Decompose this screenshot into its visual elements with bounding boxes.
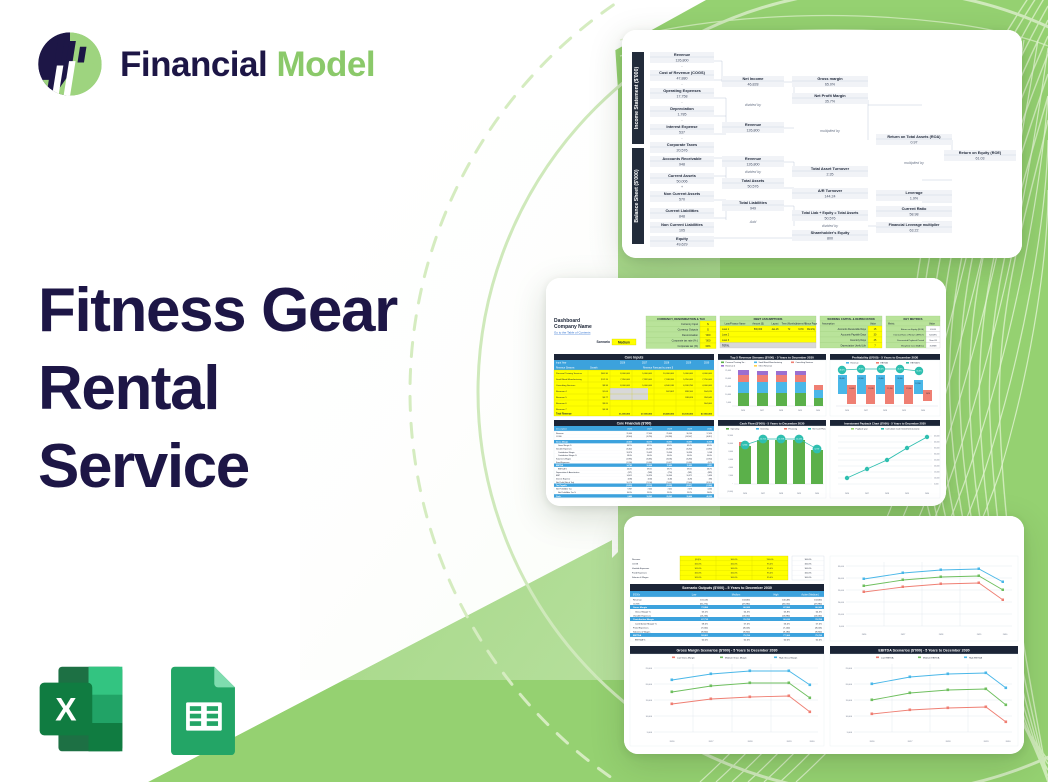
- svg-text:Variable Expenses: Variable Expenses: [632, 567, 649, 570]
- key-metrics-table: KEY METRICS MetricValue Return on Equity…: [886, 316, 940, 348]
- svg-text:Revenue: Revenue: [674, 52, 691, 57]
- svg-text:$4.18: $4.18: [603, 409, 609, 411]
- svg-text:Financing: Financing: [789, 429, 798, 431]
- svg-text:Revenue: Revenue: [745, 122, 762, 127]
- svg-text:2028: 2028: [664, 363, 670, 365]
- page-title: Fitness Gear Rental Service: [38, 272, 458, 506]
- svg-text:54.0%: 54.0%: [707, 455, 712, 457]
- svg-text:30,100: 30,100: [687, 433, 693, 435]
- svg-text:(7,158): (7,158): [646, 482, 652, 484]
- svg-text:2026: 2026: [741, 410, 745, 412]
- svg-text:KEY METRICS: KEY METRICS: [903, 317, 922, 321]
- svg-text:105.0%: 105.0%: [694, 573, 701, 575]
- svg-text:95.0%: 95.0%: [767, 577, 773, 579]
- svg-text:2028: 2028: [779, 493, 783, 495]
- svg-text:Shareholder's Equity: Shareholder's Equity: [811, 230, 851, 235]
- svg-text:65.5%: 65.5%: [647, 445, 652, 447]
- svg-text:Net Profit After Tax %: Net Profit After Tax %: [558, 491, 576, 494]
- svg-text:502,802: 502,802: [666, 391, 675, 393]
- svg-text:4,000: 4,000: [729, 467, 734, 469]
- svg-text:15,000: 15,000: [934, 472, 940, 474]
- svg-text:95.0%: 95.0%: [767, 568, 773, 570]
- svg-text:2029: 2029: [787, 741, 793, 743]
- svg-text:Internal Rate of Return (IRR): Internal Rate of Return (IRR) %: [893, 333, 924, 336]
- svg-text:2030: 2030: [815, 493, 819, 495]
- currency-denomination-tax-table: CURRENCY, DENOMINATION & TAX Currency In…: [646, 316, 716, 349]
- svg-text:100.0%: 100.0%: [804, 568, 811, 570]
- svg-text:Revenue 7: Revenue 7: [556, 409, 567, 411]
- svg-text:140,480: 140,480: [782, 599, 791, 601]
- svg-text:Revenue: Revenue: [632, 559, 641, 561]
- svg-text:30,100,000: 30,100,000: [682, 414, 694, 416]
- svg-text:DEBT ASSUMPTIONS: DEBT ASSUMPTIONS: [754, 317, 783, 321]
- svg-text:105.0%: 105.0%: [694, 568, 701, 570]
- svg-text:55.3%: 55.3%: [916, 371, 922, 373]
- svg-text:61.03: 61.03: [930, 329, 936, 331]
- svg-text:50,006: 50,006: [677, 180, 688, 184]
- dupont-flowchart-svg: Income Statement ($'000) Balance Sheet (…: [622, 30, 1022, 258]
- svg-text:Return on Equity (ROE): Return on Equity (ROE): [959, 151, 1002, 155]
- svg-text:Current Liabilities: Current Liabilities: [665, 208, 698, 213]
- svg-text:20,000: 20,000: [725, 378, 731, 380]
- svg-text:Operating Expenses: Operating Expenses: [663, 88, 701, 93]
- svg-text:5,000,000: 5,000,000: [642, 373, 653, 375]
- svg-text:EBITDA Scenarios ($'000) - 5 Y: EBITDA Scenarios ($'000) - 5 Years to De…: [878, 649, 969, 653]
- svg-text:20,000: 20,000: [846, 684, 853, 686]
- svg-text:2027: 2027: [865, 493, 869, 495]
- svg-text:'000: '000: [706, 339, 711, 343]
- svg-text:64.5%: 64.5%: [816, 611, 822, 613]
- svg-text:Active (Medium): Active (Medium): [801, 593, 818, 596]
- svg-text:76,700: 76,700: [815, 619, 822, 621]
- svg-text:30,100: 30,100: [897, 378, 902, 380]
- svg-text:2030: 2030: [1006, 741, 1012, 743]
- svg-text:65.8%: 65.8%: [784, 611, 790, 613]
- svg-text:Gross Margin: Gross Margin: [633, 607, 648, 609]
- svg-text:Total Revenue: Total Revenue: [556, 413, 572, 416]
- income-statement-section-tab: Income Statement ($'000): [632, 52, 644, 144]
- svg-text:TOTAL: TOTAL: [722, 344, 730, 347]
- svg-text:multiplied by: multiplied by: [820, 129, 840, 133]
- flow-node: Financial Leverage multiplier 63.22: [876, 222, 952, 233]
- svg-text:Return on Equity (ROE): Return on Equity (ROE): [901, 328, 924, 331]
- svg-text:284,040: 284,040: [704, 397, 713, 399]
- svg-text:2030: 2030: [810, 741, 816, 743]
- svg-text:49.0%: 49.0%: [858, 369, 864, 371]
- scenarios-canvas: RevenueCOGS Variable ExpensesFixed Expen…: [624, 516, 1024, 754]
- svg-text:2030: 2030: [921, 410, 925, 412]
- svg-text:17,050: 17,050: [915, 383, 920, 385]
- svg-text:504,070: 504,070: [704, 391, 713, 393]
- microsoft-excel-icon[interactable]: X: [34, 662, 128, 756]
- svg-text:Investment Payback Chart ($'00: Investment Payback Chart ($'000) - 5 Yea…: [844, 421, 926, 425]
- svg-text:56.0%: 56.0%: [784, 623, 790, 625]
- svg-text:Net Profit (Net of Tax): Net Profit (Net of Tax): [556, 481, 575, 484]
- svg-text:20,000: 20,000: [838, 602, 845, 604]
- svg-text:126,800: 126,800: [747, 163, 760, 167]
- brand-word-financial: Financial: [120, 45, 267, 84]
- flow-node: Cost of Revenue (COGS) 47,880: [650, 70, 714, 81]
- svg-text:57.0%: 57.0%: [816, 623, 822, 625]
- svg-text:Income Statement ($'000): Income Statement ($'000): [634, 67, 640, 130]
- svg-text:19,002: 19,002: [667, 442, 673, 444]
- svg-text:Salaries & Wages: Salaries & Wages: [632, 576, 648, 579]
- svg-text:2026: 2026: [845, 493, 849, 495]
- svg-text:31,000: 31,000: [627, 433, 633, 435]
- svg-text:2027: 2027: [709, 741, 715, 743]
- svg-text:(8,564): (8,564): [626, 436, 632, 438]
- svg-text:Balance Sheet ($'000): Balance Sheet ($'000): [634, 169, 640, 222]
- brand-word-model: Model: [276, 45, 375, 84]
- svg-text:divided by: divided by: [745, 103, 761, 107]
- svg-text:2028: 2028: [883, 410, 887, 412]
- svg-text:$9.20: $9.20: [603, 403, 609, 405]
- svg-text:Inventory Days: Inventory Days: [850, 339, 867, 342]
- svg-text:Loan 1: Loan 1: [722, 329, 730, 331]
- svg-text:18,565: 18,565: [647, 496, 653, 498]
- svg-text:2030: 2030: [925, 493, 929, 495]
- flow-node: Leverage 1.9%: [876, 190, 952, 201]
- svg-text:16,330: 16,330: [687, 452, 693, 454]
- svg-text:30.9%: 30.9%: [627, 492, 632, 494]
- svg-text:(148): (148): [668, 478, 673, 480]
- svg-text:18,170: 18,170: [647, 442, 653, 444]
- svg-text:(47,880): (47,880): [814, 603, 822, 605]
- svg-text:(676): (676): [708, 462, 713, 464]
- svg-text:Weighted Cost (WACC): Weighted Cost (WACC): [901, 344, 924, 347]
- svg-text:47,880: 47,880: [677, 77, 688, 81]
- svg-text:Total Asset Turnover: Total Asset Turnover: [811, 166, 850, 171]
- svg-text:(3,260): (3,260): [686, 449, 692, 451]
- brand-lockup: Financial Model: [34, 28, 375, 100]
- svg-text:134,800: 134,800: [742, 599, 751, 601]
- svg-text:62.0%: 62.0%: [816, 639, 822, 641]
- svg-text:31,000: 31,000: [839, 378, 844, 380]
- svg-text:2028: 2028: [885, 493, 889, 495]
- svg-text:86,920: 86,920: [815, 607, 822, 609]
- svg-text:15,000: 15,000: [725, 386, 731, 388]
- flow-node: Total Liab + Equity = Total Assets 50,57…: [792, 210, 868, 221]
- svg-text:$4.77: $4.77: [603, 397, 609, 399]
- svg-text:10,000: 10,000: [934, 478, 940, 480]
- svg-text:Other Revenue: Other Revenue: [759, 365, 773, 368]
- dashboard-svg: Dashboard Company Name Go to the Table o…: [546, 278, 946, 506]
- svg-text:2026: 2026: [670, 741, 676, 743]
- svg-text:15,000: 15,000: [838, 614, 845, 616]
- svg-text:Personal Training Services: Personal Training Services: [556, 372, 583, 375]
- svg-text:9,148: 9,148: [708, 452, 713, 454]
- svg-text:(50,274): (50,274): [700, 603, 708, 605]
- svg-text:7,576: 7,576: [688, 488, 693, 490]
- dashboard-canvas: Dashboard Company Name Go to the Table o…: [546, 278, 946, 506]
- svg-text:Net Profit Margin: Net Profit Margin: [814, 93, 846, 98]
- svg-text:$8.36: $8.36: [603, 385, 609, 387]
- investment-payback-panel: Investment Payback Chart ($'000) - 5 Yea…: [830, 420, 940, 498]
- svg-text:61.03: 61.03: [976, 157, 985, 161]
- svg-text:EBITDA %: EBITDA %: [558, 468, 567, 471]
- svg-text:(3,893): (3,893): [626, 485, 632, 487]
- svg-text:(3,280): (3,280): [686, 459, 692, 461]
- svg-text:Current Assets: Current Assets: [668, 173, 696, 178]
- svg-text:25,000: 25,000: [846, 668, 853, 670]
- flow-node: Return on Equity (ROE) 61.03: [944, 150, 1016, 161]
- svg-text:5,000: 5,000: [847, 732, 853, 734]
- svg-text:10,000: 10,000: [646, 716, 653, 718]
- flow-node: Current Liabilities 848: [650, 208, 714, 219]
- svg-text:15,700: 15,700: [887, 388, 892, 390]
- svg-text:14,000: 14,000: [849, 388, 854, 390]
- svg-text:Currency Input: Currency Input: [681, 322, 698, 326]
- svg-text:Loan 2: Loan 2: [722, 334, 730, 336]
- svg-text:Tax Payable: Tax Payable: [556, 485, 567, 487]
- svg-text:Variable Expenses: Variable Expenses: [633, 614, 652, 617]
- svg-text:66.5%: 66.5%: [627, 445, 632, 447]
- google-sheets-icon[interactable]: [156, 662, 250, 756]
- svg-text:45,000: 45,000: [934, 436, 940, 438]
- svg-text:Corporate tax rate (% ): Corporate tax rate (% ): [672, 339, 699, 343]
- svg-text:'000: '000: [706, 333, 711, 337]
- svg-text:25,000: 25,000: [646, 668, 653, 670]
- svg-text:EBITDA: EBITDA: [633, 634, 642, 637]
- svg-text:80,630: 80,630: [783, 619, 790, 621]
- svg-text:62.0%: 62.0%: [744, 639, 750, 641]
- svg-text:29,265: 29,265: [667, 496, 673, 498]
- svg-text:7,350,000: 7,350,000: [620, 379, 631, 381]
- svg-text:COGS: COGS: [556, 436, 562, 438]
- svg-text:Accounts Receivable Days: Accounts Receivable Days: [838, 328, 867, 331]
- svg-text:65.6%: 65.6%: [667, 445, 672, 447]
- svg-text:EBITDA %: EBITDA %: [635, 638, 645, 641]
- svg-text:39.5%: 39.5%: [687, 469, 692, 471]
- svg-text:EBITDA: EBITDA: [881, 362, 889, 365]
- svg-text:$12.15: $12.15: [601, 379, 608, 381]
- flow-node: Net Profit Margin 35.7%: [792, 93, 868, 104]
- svg-text:Contribution Margin: Contribution Margin: [558, 451, 575, 454]
- svg-text:Consulting Services: Consulting Services: [556, 384, 576, 387]
- svg-text:63.2%: 63.2%: [702, 611, 708, 613]
- scenario-overview-chart: 35,00030,000 25,00020,000 15,0005,000 20…: [830, 556, 1018, 641]
- svg-text:64.5%: 64.5%: [744, 611, 750, 613]
- svg-text:39.5%: 39.5%: [647, 469, 652, 471]
- page-title-line-1: Fitness Gear: [38, 272, 458, 350]
- svg-text:2026: 2026: [627, 429, 633, 431]
- dashboard-screenshot[interactable]: Dashboard Company Name Go to the Table o…: [546, 278, 946, 506]
- svg-text:Value: Value: [870, 323, 877, 326]
- svg-text:7,992,000: 7,992,000: [642, 379, 653, 381]
- svg-text:Discounted Payback Period: Discounted Payback Period: [897, 339, 925, 342]
- svg-text:10,320: 10,320: [647, 475, 653, 477]
- svg-text:A/R Turnover: A/R Turnover: [818, 188, 843, 193]
- svg-text:9,967: 9,967: [628, 488, 633, 490]
- svg-text:10,178: 10,178: [627, 482, 633, 484]
- svg-text:Contribution Margin: Contribution Margin: [633, 618, 655, 621]
- svg-text:$60.30: $60.30: [601, 373, 608, 375]
- svg-text:9,420: 9,420: [926, 393, 930, 395]
- svg-text:7,000: 7,000: [648, 488, 653, 490]
- svg-text:14,782: 14,782: [627, 464, 633, 467]
- flow-node: Return on Total Assets (ROA) 0.97: [876, 134, 952, 145]
- svg-text:100.0%: 100.0%: [730, 573, 737, 575]
- svg-text:17,758: 17,758: [677, 95, 688, 99]
- svg-text:15,092: 15,092: [647, 452, 653, 454]
- svg-text:(9,800): (9,800): [743, 631, 750, 633]
- svg-text:5,000: 5,000: [934, 484, 939, 486]
- svg-text:Revenue 5: Revenue 5: [556, 397, 567, 399]
- svg-text:Low: Low: [692, 593, 697, 596]
- svg-text:Cumulative Cash Investment (Lo: Cumulative Cash Investment (Losses): [886, 428, 920, 431]
- svg-text:Corporate tax (%): Corporate tax (%): [678, 344, 699, 348]
- scenarios-svg: RevenueCOGS Variable ExpensesFixed Expen…: [624, 516, 1024, 754]
- svg-text:(13,236): (13,236): [700, 615, 708, 617]
- svg-text:27,000: 27,000: [647, 433, 653, 435]
- svg-text:10,000: 10,000: [725, 394, 731, 396]
- svg-text:100.0%: 100.0%: [804, 577, 811, 579]
- svg-text:Gross Margin %: Gross Margin %: [558, 444, 572, 447]
- svg-text:29,400: 29,400: [667, 433, 673, 435]
- gross-margin-scenarios-panel: Gross Margin Scenarios ($'000) - 5 Years…: [630, 646, 824, 746]
- svg-text:67,710: 67,710: [701, 619, 708, 621]
- svg-text:Net Income: Net Income: [743, 76, 765, 81]
- svg-text:1,785: 1,785: [678, 113, 687, 117]
- svg-text:15,520: 15,520: [868, 388, 873, 390]
- svg-text:15,000: 15,000: [646, 700, 653, 702]
- svg-text:(3,228): (3,228): [666, 485, 672, 487]
- svg-text:Revenue: Revenue: [745, 156, 762, 161]
- svg-text:(1,000): (1,000): [727, 491, 733, 493]
- svg-text:Net Profit After Tax: Net Profit After Tax: [556, 487, 572, 490]
- svg-text:Payback year: Payback year: [856, 429, 868, 431]
- svg-text:Leverage: Leverage: [905, 190, 923, 195]
- svg-text:22,436: 22,436: [627, 441, 633, 444]
- svg-text:$1.06: $1.06: [603, 391, 609, 393]
- svg-text:(13,560): (13,560): [814, 615, 822, 617]
- svg-text:4,540,240: 4,540,240: [664, 385, 675, 387]
- svg-text:8,000: 8,000: [729, 451, 734, 453]
- svg-text:Gross margin: Gross margin: [817, 76, 843, 81]
- svg-text:6,737: 6,737: [815, 449, 820, 451]
- svg-text:29,400: 29,400: [878, 378, 883, 380]
- svg-text:2027: 2027: [647, 429, 653, 431]
- svg-text:11,038: 11,038: [707, 442, 712, 444]
- balance-sheet-section-tab: Balance Sheet ($'000): [632, 148, 644, 244]
- svg-text:58.0%: 58.0%: [702, 623, 708, 625]
- svg-text:Term (Months): Term (Months): [782, 323, 797, 326]
- svg-text:Operating: Operating: [731, 428, 740, 431]
- svg-text:8,000,000: 8,000,000: [620, 385, 631, 387]
- svg-text:63.22: 63.22: [910, 229, 919, 233]
- flow-node: Accounts Receivable 948: [650, 156, 714, 167]
- svg-text:Fixed Expenses: Fixed Expenses: [556, 462, 570, 464]
- svg-text:Low EBITDA: Low EBITDA: [881, 656, 894, 659]
- svg-text:126,800: 126,800: [747, 129, 760, 133]
- svg-text:Revenue 4: Revenue 4: [556, 391, 567, 393]
- svg-text:1.9%: 1.9%: [910, 197, 919, 201]
- svg-text:2026: 2026: [845, 410, 849, 412]
- svg-text:25.3%: 25.3%: [667, 492, 672, 494]
- flow-node: Operating Expenses 17,758: [650, 88, 714, 99]
- svg-text:15,500: 15,500: [906, 388, 911, 390]
- scenarios-screenshot[interactable]: RevenueCOGS Variable ExpensesFixed Expen…: [624, 516, 1024, 754]
- svg-text:537: 537: [679, 131, 685, 135]
- svg-text:949: 949: [750, 207, 756, 211]
- svg-text:(7,584): (7,584): [686, 482, 692, 484]
- svg-text:(1,950): (1,950): [706, 459, 712, 461]
- svg-text:2026: 2026: [620, 363, 626, 365]
- circle-bar-chart-logo-icon: [34, 28, 106, 100]
- svg-text:2029: 2029: [905, 493, 909, 495]
- svg-text:15,904: 15,904: [667, 452, 673, 454]
- svg-text:6,240,250: 6,240,250: [683, 385, 694, 387]
- flow-node: A/R Turnover 144.24: [792, 188, 868, 199]
- svg-text:60.2%: 60.2%: [702, 639, 708, 641]
- svg-text:49,629: 49,629: [677, 243, 688, 247]
- svg-text:35.7%: 35.7%: [825, 100, 836, 104]
- svg-text:6,856: 6,856: [743, 445, 748, 447]
- svg-text:X: X: [55, 691, 77, 727]
- svg-text:15,000: 15,000: [846, 700, 853, 702]
- svg-text:Medium EBITDA: Medium EBITDA: [923, 656, 940, 659]
- svg-text:10,000,000: 10,000,000: [663, 373, 675, 375]
- svg-text:10,000: 10,000: [728, 443, 734, 445]
- svg-text:2028: 2028: [779, 410, 783, 412]
- svg-text:48.4%: 48.4%: [839, 370, 845, 372]
- svg-text:Interest Expense: Interest Expense: [666, 124, 698, 129]
- svg-text:High EBITDA: High EBITDA: [969, 656, 983, 659]
- core-financials-panel: Core Financials ($'000) Description 2026…: [554, 420, 714, 498]
- flow-node: Interest Expense 537: [650, 124, 714, 135]
- svg-text:40,000: 40,000: [934, 442, 940, 444]
- svg-text:18,974: 18,974: [627, 452, 633, 454]
- svg-text:+: +: [681, 185, 683, 189]
- svg-text:divided by: divided by: [822, 224, 838, 228]
- svg-text:(885): (885): [708, 472, 713, 474]
- svg-text:Amount ($): Amount ($): [752, 323, 764, 326]
- svg-text:19,590: 19,590: [687, 442, 693, 444]
- svg-text:Current Ratio: Current Ratio: [902, 206, 927, 211]
- brand-wordmark: Financial Model: [120, 47, 375, 82]
- svg-text:Scenario: Scenario: [597, 340, 611, 344]
- svg-text:Loan 3: Loan 3: [722, 340, 730, 342]
- svg-text:$'000s: $'000s: [633, 593, 641, 596]
- svg-text:(3,186): (3,186): [666, 459, 672, 461]
- svg-text:(9,780): (9,780): [646, 436, 652, 438]
- svg-text:5,000: 5,000: [726, 402, 731, 404]
- svg-text:39.7%: 39.7%: [667, 469, 672, 471]
- svg-text:Depreciation & Amortisation: Depreciation & Amortisation: [556, 471, 579, 474]
- svg-text:(1,098): (1,098): [646, 462, 652, 464]
- svg-text:46,096: 46,096: [707, 495, 713, 498]
- svg-text:Investing: Investing: [761, 428, 769, 431]
- svg-text:(1,890): (1,890): [706, 449, 712, 451]
- svg-text:2029: 2029: [797, 493, 801, 495]
- svg-text:Year 03: Year 03: [929, 339, 937, 342]
- flow-node: Shareholder's Equity 800: [792, 230, 868, 241]
- svg-text:(1,954): (1,954): [706, 484, 712, 487]
- svg-text:2029: 2029: [902, 410, 906, 412]
- svg-text:(588): (588): [648, 472, 653, 474]
- svg-text:(7,632): (7,632): [666, 482, 672, 484]
- svg-text:High Gross Margin: High Gross Margin: [779, 656, 798, 659]
- svg-text:Non Current Liabilities: Non Current Liabilities: [661, 222, 703, 227]
- svg-text:838,100: 838,100: [685, 391, 694, 393]
- svg-text:Corporate Taxes: Corporate Taxes: [667, 142, 697, 147]
- svg-text:Total Assets: Total Assets: [742, 178, 765, 183]
- svg-text:(1,206): (1,206): [626, 462, 632, 464]
- svg-text:7,452: 7,452: [668, 488, 673, 490]
- svg-text:(3,153): (3,153): [646, 485, 652, 487]
- svg-text:50,576: 50,576: [825, 217, 836, 221]
- dupont-flowchart-screenshot[interactable]: Income Statement ($'000) Balance Sheet (…: [622, 30, 1022, 258]
